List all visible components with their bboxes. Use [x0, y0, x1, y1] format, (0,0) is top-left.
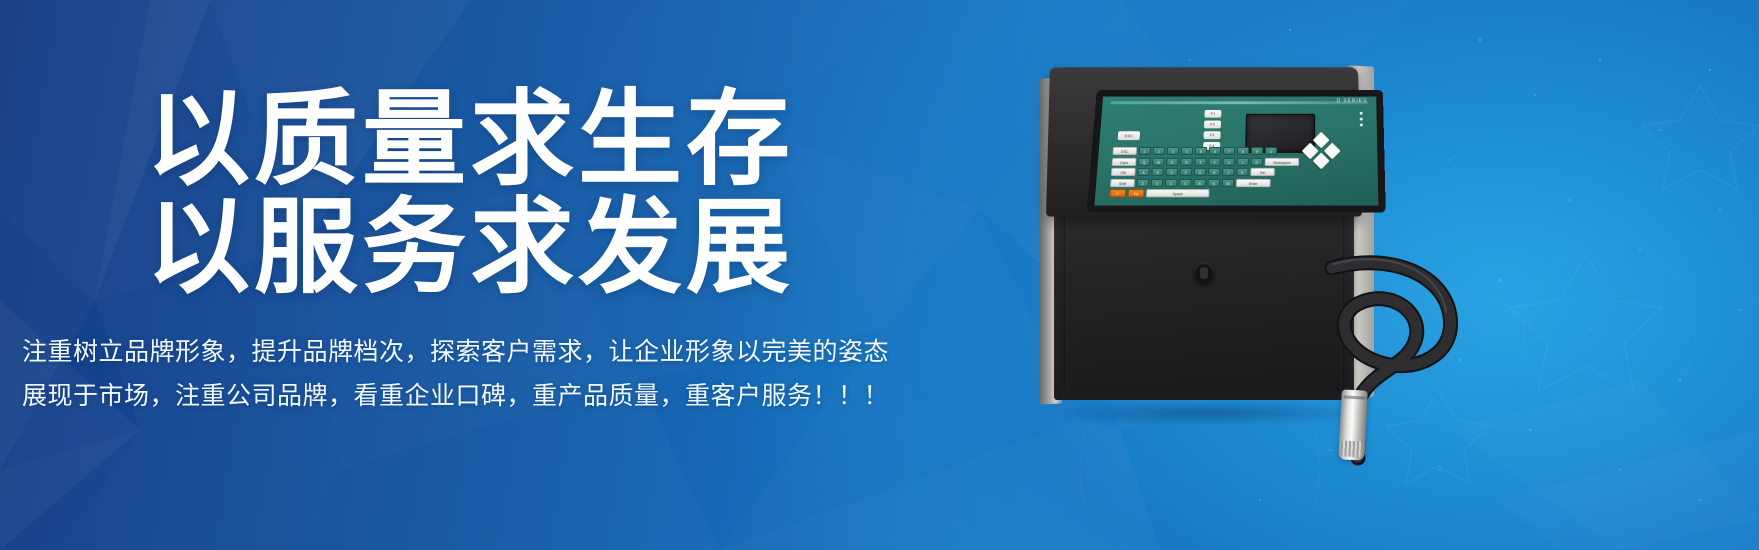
key-0[interactable]: 0: [1265, 147, 1277, 155]
key-o[interactable]: O: [1251, 157, 1263, 165]
key-8[interactable]: 8: [1237, 147, 1249, 155]
series-label: D SERIES: [1337, 98, 1368, 104]
key-r[interactable]: R: [1180, 157, 1192, 165]
key-u[interactable]: U: [1222, 157, 1234, 165]
key-k[interactable]: K: [1236, 168, 1248, 176]
key-a[interactable]: A: [1137, 168, 1150, 176]
key-c[interactable]: C: [1165, 178, 1178, 186]
key-2[interactable]: 2: [1153, 147, 1165, 155]
key-fn-primary[interactable]: F: [1109, 189, 1126, 197]
function-key-f2[interactable]: F2: [1204, 121, 1221, 129]
key-9[interactable]: 9: [1251, 147, 1263, 155]
panel-top-trim: [1110, 101, 1368, 104]
key-space[interactable]: Space: [1146, 189, 1209, 197]
headline-line-1: 以质量求生存: [146, 82, 794, 198]
key-v[interactable]: V: [1179, 178, 1192, 186]
key-g[interactable]: G: [1194, 168, 1206, 176]
copy-block: 以质量求生存 以服务求发展 注重树立品牌形象，提升品牌档次，探索客户需求，让企业…: [0, 0, 1000, 550]
keyboard-row[interactable]: Ctrl A S D F G H J K Del: [1111, 168, 1382, 176]
esc-key[interactable]: ESC: [1118, 131, 1141, 140]
key-i[interactable]: I: [1237, 157, 1249, 165]
keyboard-row[interactable]: ESC 1 2 3 4 5 6 7 8 9 0: [1112, 147, 1381, 155]
function-key-f3[interactable]: F3: [1203, 131, 1220, 139]
printer-access-door: [1066, 214, 1342, 390]
keyboard-row[interactable]: F Fn Space: [1109, 189, 1382, 197]
key-z[interactable]: Z: [1137, 178, 1150, 186]
key-b[interactable]: B: [1193, 178, 1206, 186]
keyboard-row[interactable]: Caps Q W E R T Y U I O Backspace: [1112, 157, 1382, 165]
subtitle-line-2: 展现于市场，注重公司品牌，看重企业口碑，重产品质量，重客户服务！！！: [22, 374, 982, 418]
key-3[interactable]: 3: [1167, 147, 1179, 155]
key-q[interactable]: Q: [1138, 157, 1151, 165]
status-led-dots: [1360, 112, 1363, 129]
printer-body: [1054, 200, 1354, 400]
printhead-nozzle: [1338, 389, 1368, 460]
key-s[interactable]: S: [1151, 168, 1164, 176]
key-backspace[interactable]: Backspace: [1265, 157, 1299, 165]
key-e[interactable]: E: [1166, 157, 1178, 165]
key-d[interactable]: D: [1166, 168, 1179, 176]
key-ctrl[interactable]: Ctrl: [1111, 168, 1136, 176]
key-x[interactable]: X: [1151, 178, 1164, 186]
key-6[interactable]: 6: [1209, 147, 1221, 155]
key-5[interactable]: 5: [1195, 147, 1207, 155]
key-1[interactable]: 1: [1139, 147, 1152, 155]
key-del[interactable]: Del: [1250, 168, 1274, 176]
promo-banner: 以质量求生存 以服务求发展 注重树立品牌形象，提升品牌档次，探索客户需求，让企业…: [0, 0, 1759, 550]
key-esc[interactable]: ESC: [1112, 147, 1137, 155]
key-t[interactable]: T: [1194, 157, 1206, 165]
key-4[interactable]: 4: [1181, 147, 1193, 155]
key-h[interactable]: H: [1208, 168, 1220, 176]
keyboard[interactable]: ESC 1 2 3 4 5 6 7 8 9 0 Caps Q: [1109, 147, 1382, 200]
key-fn-secondary[interactable]: Fn: [1128, 189, 1145, 197]
door-latch-icon: [1194, 262, 1214, 284]
page-title: 以质量求生存 以服务求发展: [146, 86, 794, 302]
subtitle-line-1: 注重树立品牌形象，提升品牌档次，探索客户需求，让企业形象以完美的姿态: [22, 330, 982, 374]
key-enter[interactable]: Enter: [1236, 178, 1271, 186]
printer-top-deck: D SERIES F1 F2 F3 F4 ESC: [1046, 67, 1362, 216]
keyboard-row[interactable]: Shift Z X C V B N M Enter: [1110, 178, 1382, 186]
printer-control-panel: D SERIES F1 F2 F3 F4 ESC: [1087, 90, 1386, 213]
inkjet-printer-product-image: D SERIES F1 F2 F3 F4 ESC: [1018, 48, 1438, 448]
key-f[interactable]: F: [1180, 168, 1193, 176]
key-m[interactable]: M: [1222, 178, 1234, 186]
key-shift[interactable]: Shift: [1110, 178, 1135, 186]
key-7[interactable]: 7: [1223, 147, 1235, 155]
nozzle-tip-grille: [1340, 440, 1363, 457]
key-n[interactable]: N: [1208, 178, 1220, 186]
headline-line-2: 以服务求发展: [146, 194, 794, 302]
subtitle-block: 注重树立品牌形象，提升品牌档次，探索客户需求，让企业形象以完美的姿态 展现于市场…: [22, 330, 982, 418]
key-caps[interactable]: Caps: [1112, 157, 1137, 165]
function-key-f1[interactable]: F1: [1204, 110, 1221, 118]
key-w[interactable]: W: [1152, 157, 1165, 165]
key-y[interactable]: Y: [1208, 157, 1220, 165]
key-j[interactable]: J: [1222, 168, 1234, 176]
